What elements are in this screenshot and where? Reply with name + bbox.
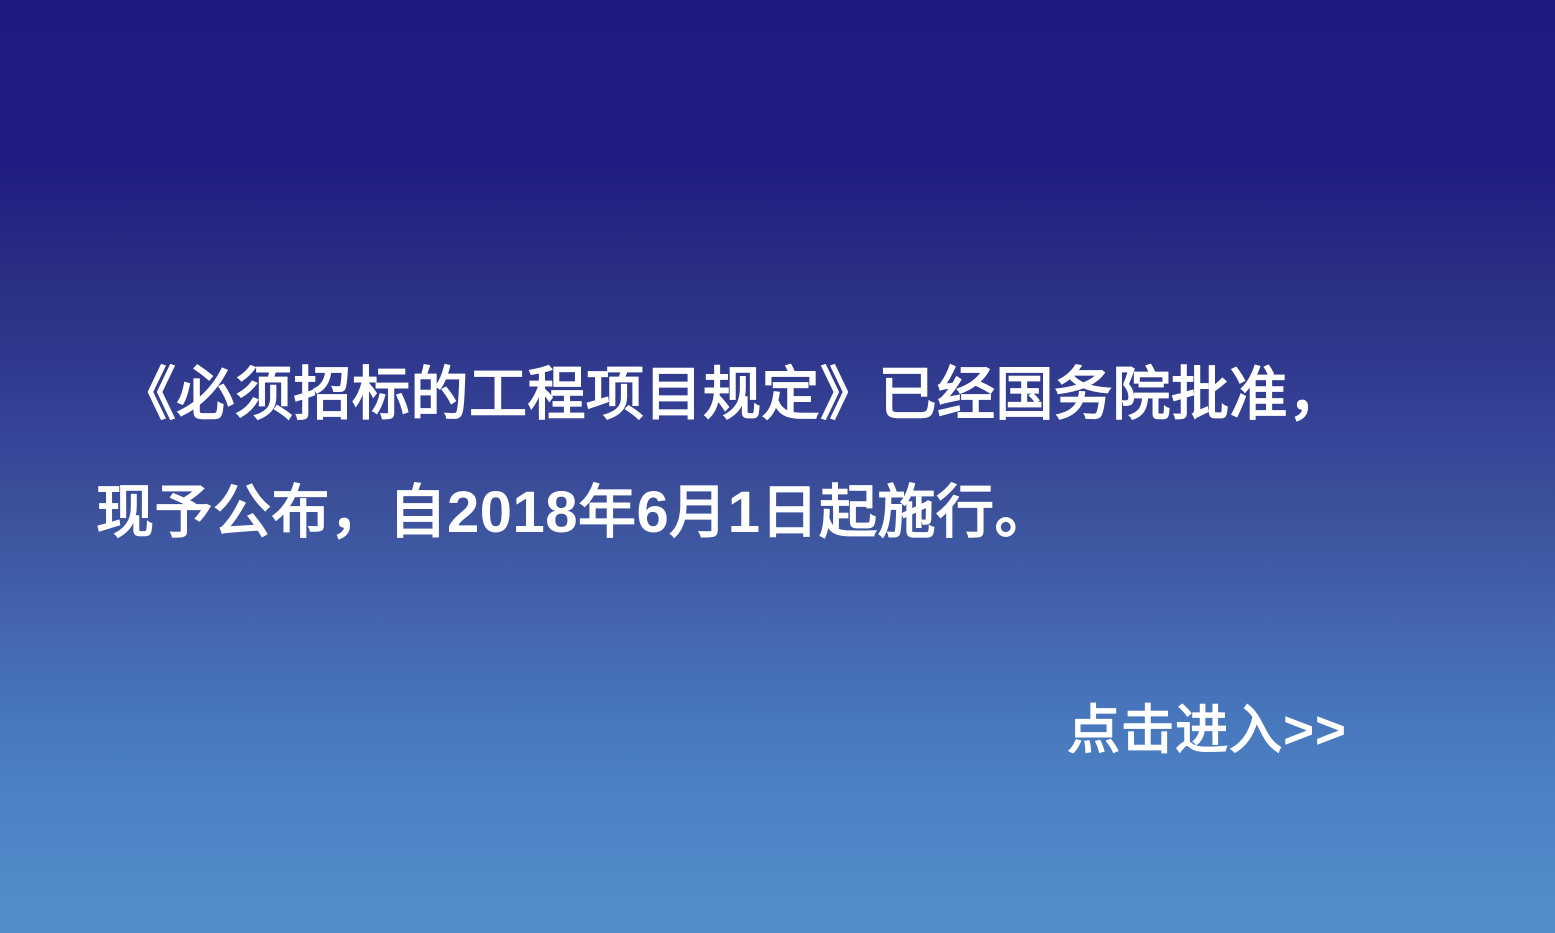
statement-line-1: 《必须招标的工程项目规定》已经国务院批准，: [88, 336, 1468, 454]
announcement-banner: 《必须招标的工程项目规定》已经国务院批准， 现予公布，自2018年6月1日起施行…: [0, 0, 1555, 933]
enter-link[interactable]: 点击进入>>: [1067, 688, 1347, 764]
announcement-statement: 《必须招标的工程项目规定》已经国务院批准， 现予公布，自2018年6月1日起施行…: [88, 336, 1468, 572]
cta-container: 点击进入>>: [0, 688, 1555, 764]
statement-line-2: 现予公布，自2018年6月1日起施行。: [88, 454, 1468, 572]
